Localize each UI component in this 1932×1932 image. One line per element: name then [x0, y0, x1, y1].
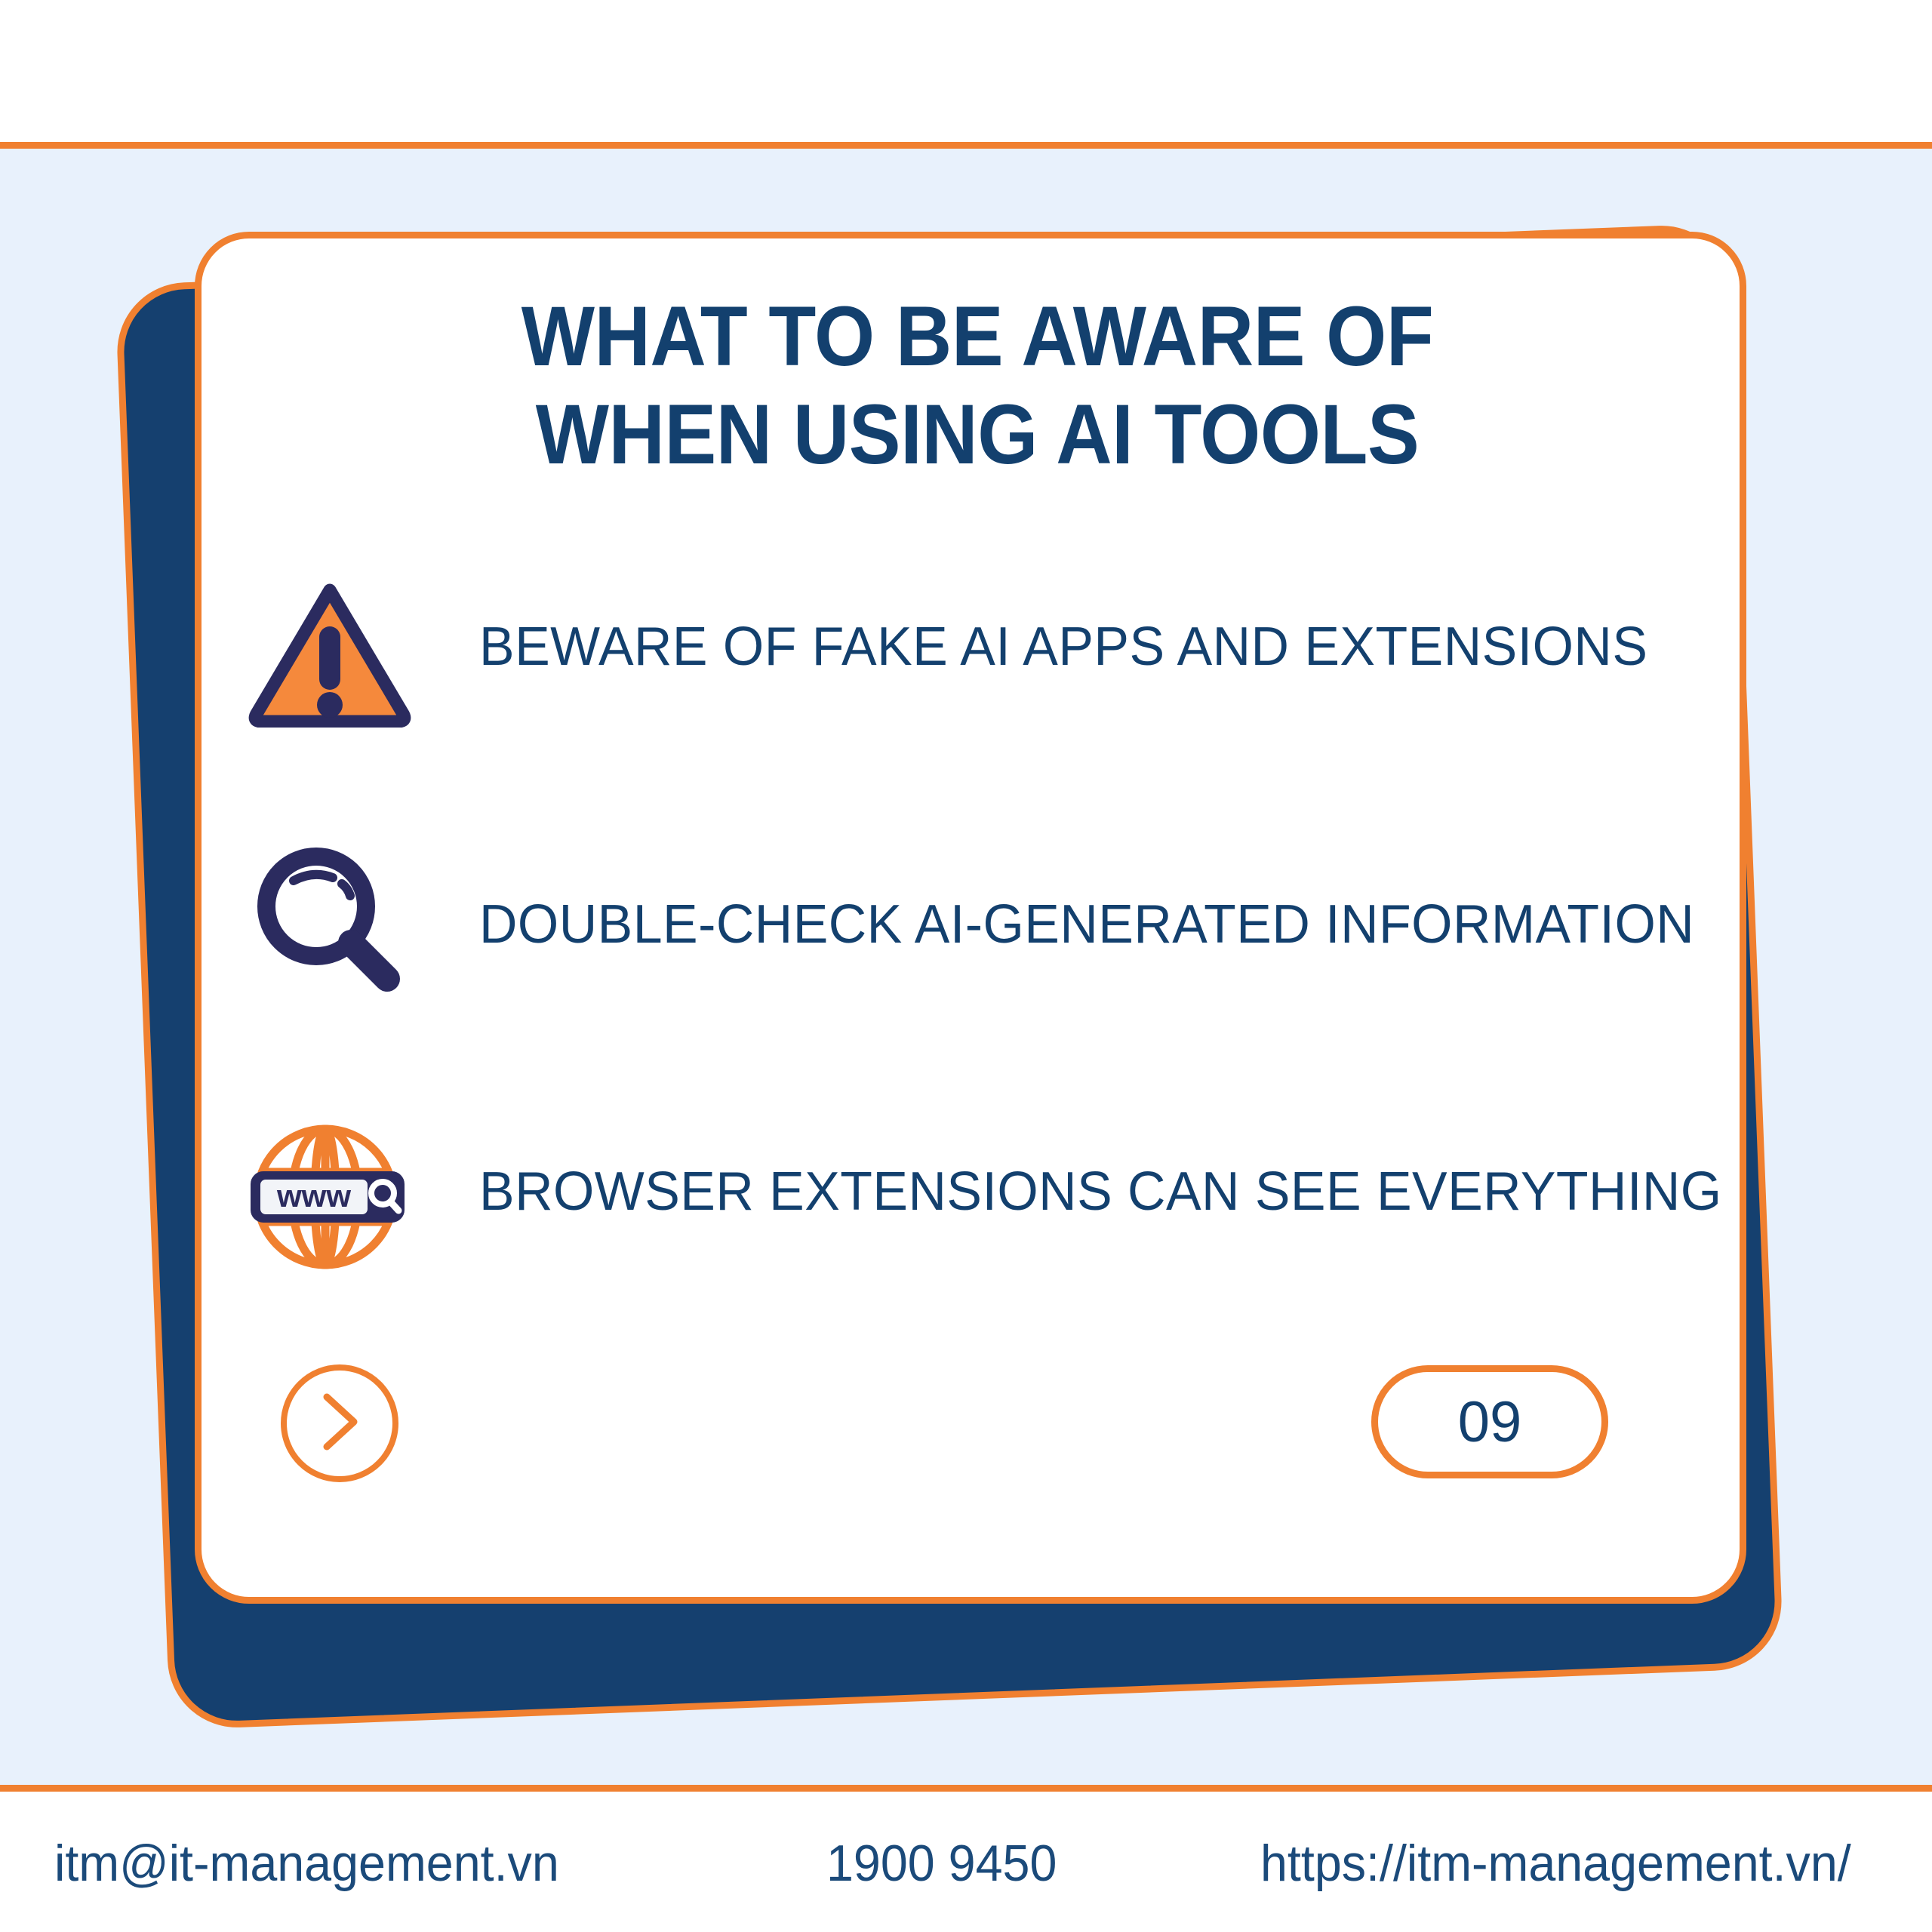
awareness-list: BEWARE OF FAKE AI APPS AND EXTENSIONS DO… [202, 563, 1753, 1378]
page-title: WHAT TO BE AWARE OF WHEN USING AI TOOLS [263, 288, 1691, 484]
footer-phone[interactable]: 1900 9450 [826, 1834, 1057, 1893]
content-card: WHAT TO BE AWARE OF WHEN USING AI TOOLS … [195, 232, 1746, 1604]
list-item-label: BROWSER EXTENSIONS CAN SEE EVERYTHING [479, 1161, 1722, 1223]
list-item[interactable]: BEWARE OF FAKE AI APPS AND EXTENSIONS [202, 563, 1753, 835]
warning-triangle-icon [243, 567, 417, 740]
magnifying-glass-icon [243, 835, 417, 1008]
list-item-label: DOUBLE-CHECK AI-GENERATED INFORMATION [479, 894, 1694, 955]
chevron-right-icon [315, 1389, 365, 1458]
globe-www-icon: www [243, 1110, 417, 1284]
page-number-badge: 09 [1371, 1365, 1608, 1478]
footer-website[interactable]: https://itm-management.vn/ [1260, 1834, 1851, 1893]
card-stack: WHAT TO BE AWARE OF WHEN USING AI TOOLS … [0, 0, 1932, 1932]
svg-text:www: www [276, 1178, 351, 1214]
next-button[interactable] [281, 1364, 398, 1482]
list-item[interactable]: DOUBLE-CHECK AI-GENERATED INFORMATION [202, 835, 1753, 1106]
list-item-label: BEWARE OF FAKE AI APPS AND EXTENSIONS [479, 616, 1647, 678]
footer: itm@it-management.vn 1900 9450 https://i… [0, 1792, 1932, 1932]
footer-email[interactable]: itm@it-management.vn [54, 1834, 559, 1893]
list-item[interactable]: www BROWSER EXTENSIONS CAN SEE EVERYTHIN… [202, 1106, 1753, 1378]
